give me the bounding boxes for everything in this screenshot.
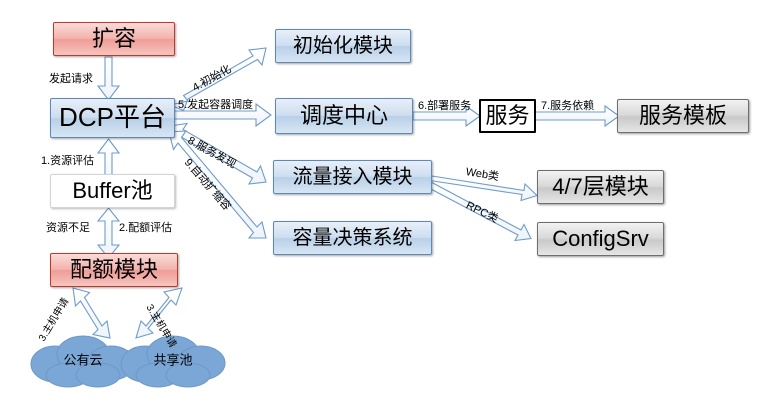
node-service[interactable]: 服务 xyxy=(479,99,536,133)
node-configsrv[interactable]: ConfigSrv xyxy=(537,222,664,256)
node-capacity[interactable]: 容量决策系统 xyxy=(273,221,432,255)
edge-label-e_lack: 资源不足 xyxy=(46,219,90,235)
node-label-service: 服务 xyxy=(485,104,529,127)
diagram-canvas: 公有云 共享池 扩容 DCP平台 Buffer池 配额模块 初始化模块 调度中心 xyxy=(0,0,766,404)
node-dcp[interactable]: DCP平台 xyxy=(50,98,175,138)
node-traffic[interactable]: 流量接入模块 xyxy=(273,160,432,194)
node-label-sched: 调度中心 xyxy=(300,104,388,127)
node-label-layer47: 4/7层模块 xyxy=(552,175,649,198)
node-layer47[interactable]: 4/7层模块 xyxy=(537,170,664,204)
edge-e_req xyxy=(98,57,119,100)
node-label-init: 初始化模块 xyxy=(293,36,393,57)
edge-label-e_7: 7.服务依赖 xyxy=(541,97,594,113)
node-init[interactable]: 初始化模块 xyxy=(275,29,411,63)
node-label-configsrv: ConfigSrv xyxy=(552,227,649,250)
node-label-quota: 配额模块 xyxy=(70,258,158,281)
edge-label-e_1: 1.资源评估 xyxy=(41,152,94,168)
node-buffer[interactable]: Buffer池 xyxy=(50,174,175,208)
edge-label-e_5: 5.发起容器调度 xyxy=(178,96,253,112)
node-sched[interactable]: 调度中心 xyxy=(275,98,413,134)
node-label-traffic: 流量接入模块 xyxy=(293,167,413,188)
node-expand[interactable]: 扩容 xyxy=(53,22,175,56)
node-svctpl[interactable]: 服务模板 xyxy=(617,99,749,133)
node-label-capacity: 容量决策系统 xyxy=(293,228,413,249)
node-label-sharedpool: 共享池 xyxy=(118,350,228,369)
node-label-expand: 扩容 xyxy=(92,27,136,50)
edge-label-e_2: 2.配额评估 xyxy=(119,219,172,235)
edge-e_2 xyxy=(98,208,119,258)
edge-label-e_req: 发起请求 xyxy=(49,70,93,86)
node-label-dcp: DCP平台 xyxy=(59,104,166,131)
node-label-buffer: Buffer池 xyxy=(72,179,152,202)
edge-label-e_6: 6.部署服务 xyxy=(418,97,471,113)
node-label-svctpl: 服务模板 xyxy=(639,104,727,127)
node-quota[interactable]: 配额模块 xyxy=(50,253,178,287)
